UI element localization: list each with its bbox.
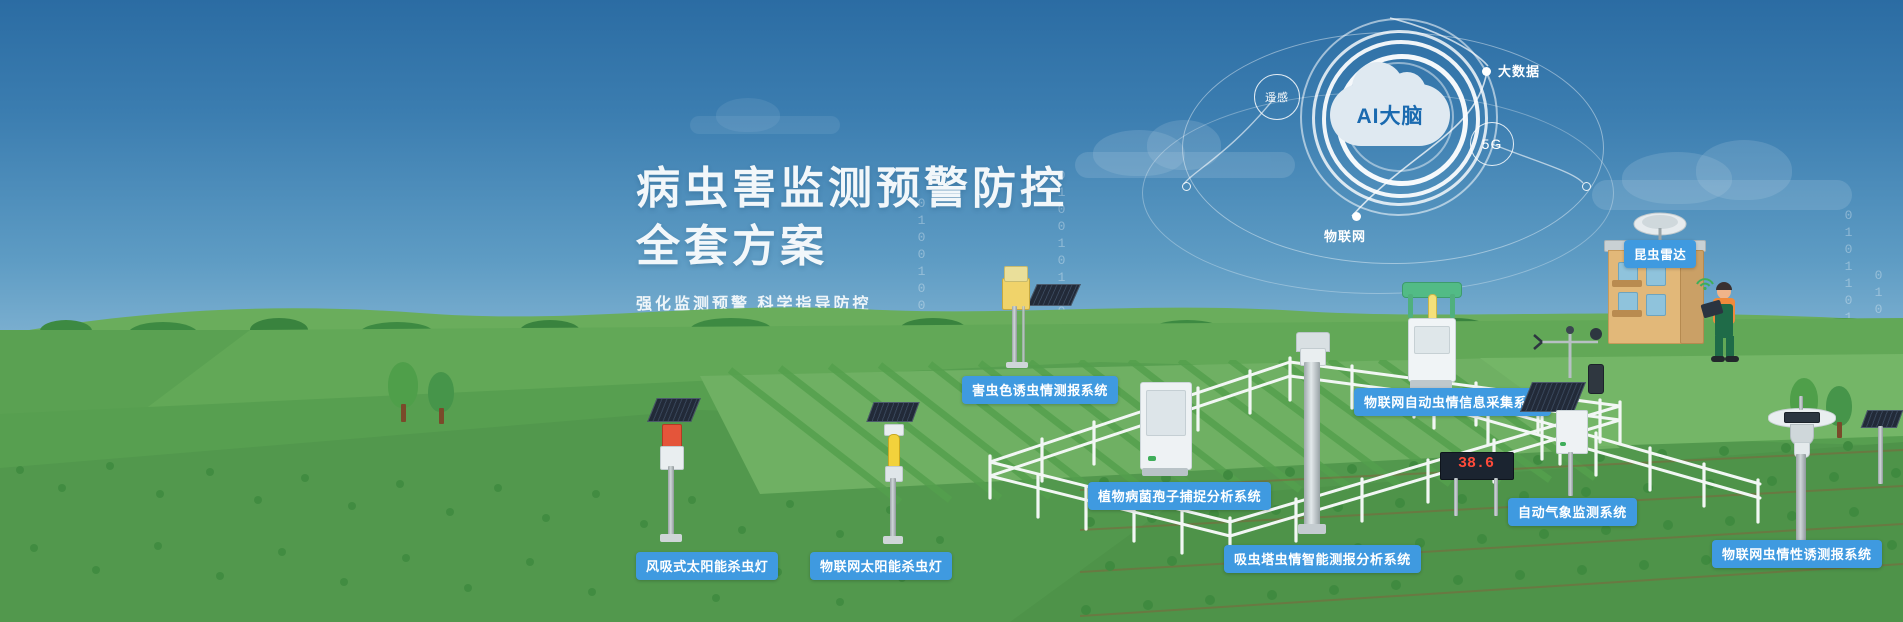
hair <box>1716 282 1732 290</box>
tree <box>428 372 454 424</box>
device-color-lure-pest-forecast[interactable] <box>996 258 1074 370</box>
base <box>1006 362 1028 368</box>
device-iot-sex-lure-forecast[interactable] <box>1768 396 1838 556</box>
ai-hub: AI大脑 遥感 5G 大数据 物联网 <box>1292 22 1592 252</box>
leg-left <box>1715 336 1723 358</box>
solar-panel <box>866 402 919 422</box>
label-spore-capture-analysis[interactable]: 植物病菌孢子捕捉分析系统 <box>1088 482 1271 510</box>
rain-shield-leg-l <box>1408 294 1413 318</box>
pole <box>890 478 896 538</box>
label-color-lure-pest-forecast[interactable]: 害虫色诱虫情测报系统 <box>962 376 1118 404</box>
solar-panel <box>1520 382 1586 412</box>
hero-title-line1: 病虫害监测预警防控 <box>636 160 1068 218</box>
base <box>660 534 682 542</box>
sensor-strip <box>1784 412 1820 423</box>
pole-rail <box>1022 306 1025 364</box>
sticky-board <box>1004 266 1028 282</box>
tower-column <box>1304 362 1320 528</box>
rain-gauge <box>1588 364 1604 394</box>
device-auto-weather-monitoring[interactable] <box>1526 320 1616 500</box>
window <box>1646 294 1666 316</box>
balcony <box>1612 310 1642 317</box>
shoe-left <box>1711 356 1725 362</box>
label-iot-solar-insect-lamp[interactable]: 物联网太阳能杀虫灯 <box>810 552 952 580</box>
cloud-right <box>1592 140 1852 210</box>
label-iot-sex-lure-forecast[interactable]: 物联网虫情性诱测报系统 <box>1712 540 1882 568</box>
tree <box>388 362 418 422</box>
balcony <box>1612 280 1642 287</box>
label-auto-weather-monitoring[interactable]: 自动气象监测系统 <box>1508 498 1637 526</box>
pole <box>1878 426 1883 484</box>
solar-panel <box>647 398 701 422</box>
shoe-right <box>1725 356 1739 362</box>
base <box>1142 468 1188 476</box>
base <box>883 536 903 544</box>
pole <box>1012 306 1017 364</box>
label-insect-radar[interactable]: 昆虫雷达 <box>1624 240 1696 268</box>
solar-panel <box>1027 284 1081 306</box>
cloud-far-left <box>690 96 840 136</box>
leg-right <box>1726 336 1734 358</box>
pole <box>1568 452 1573 496</box>
label-wind-suction-solar-insect-lamp[interactable]: 风吸式太阳能杀虫灯 <box>636 552 778 580</box>
device-suction-tower-forecast[interactable] <box>1290 332 1334 542</box>
body-panel <box>1414 326 1450 354</box>
pole-right <box>1494 478 1498 516</box>
orbit-endpoint-left <box>1182 182 1191 191</box>
pole <box>1796 454 1806 546</box>
wifi-icon <box>1694 274 1716 290</box>
led-display-board[interactable]: 38.6 <box>1440 452 1516 520</box>
technician-figure <box>1702 278 1746 364</box>
cabinet-vent <box>1146 390 1186 436</box>
pole <box>668 466 674 536</box>
cabinet-indicator <box>1560 442 1566 446</box>
rain-shield-leg-r <box>1450 294 1455 318</box>
ai-brain-label: AI大脑 <box>1330 84 1450 146</box>
pole-left <box>1454 478 1458 516</box>
mast-top <box>1799 396 1803 410</box>
led-value: 38.6 <box>1440 455 1512 472</box>
device-small-far-right <box>1862 410 1902 490</box>
device-wind-suction-solar-insect-lamp[interactable] <box>640 398 700 548</box>
control-cabinet <box>1556 410 1588 454</box>
foreground-crop-texture-left <box>0 430 1000 622</box>
device-iot-solar-insect-lamp[interactable] <box>866 402 922 548</box>
status-light <box>1148 456 1156 461</box>
infographic-banner: 010010011010010 0100101101101010010 0101… <box>0 0 1903 622</box>
lamp-tube <box>888 434 900 470</box>
base <box>1298 524 1326 534</box>
label-suction-tower-forecast[interactable]: 吸虫塔虫情智能测报分析系统 <box>1224 545 1421 573</box>
